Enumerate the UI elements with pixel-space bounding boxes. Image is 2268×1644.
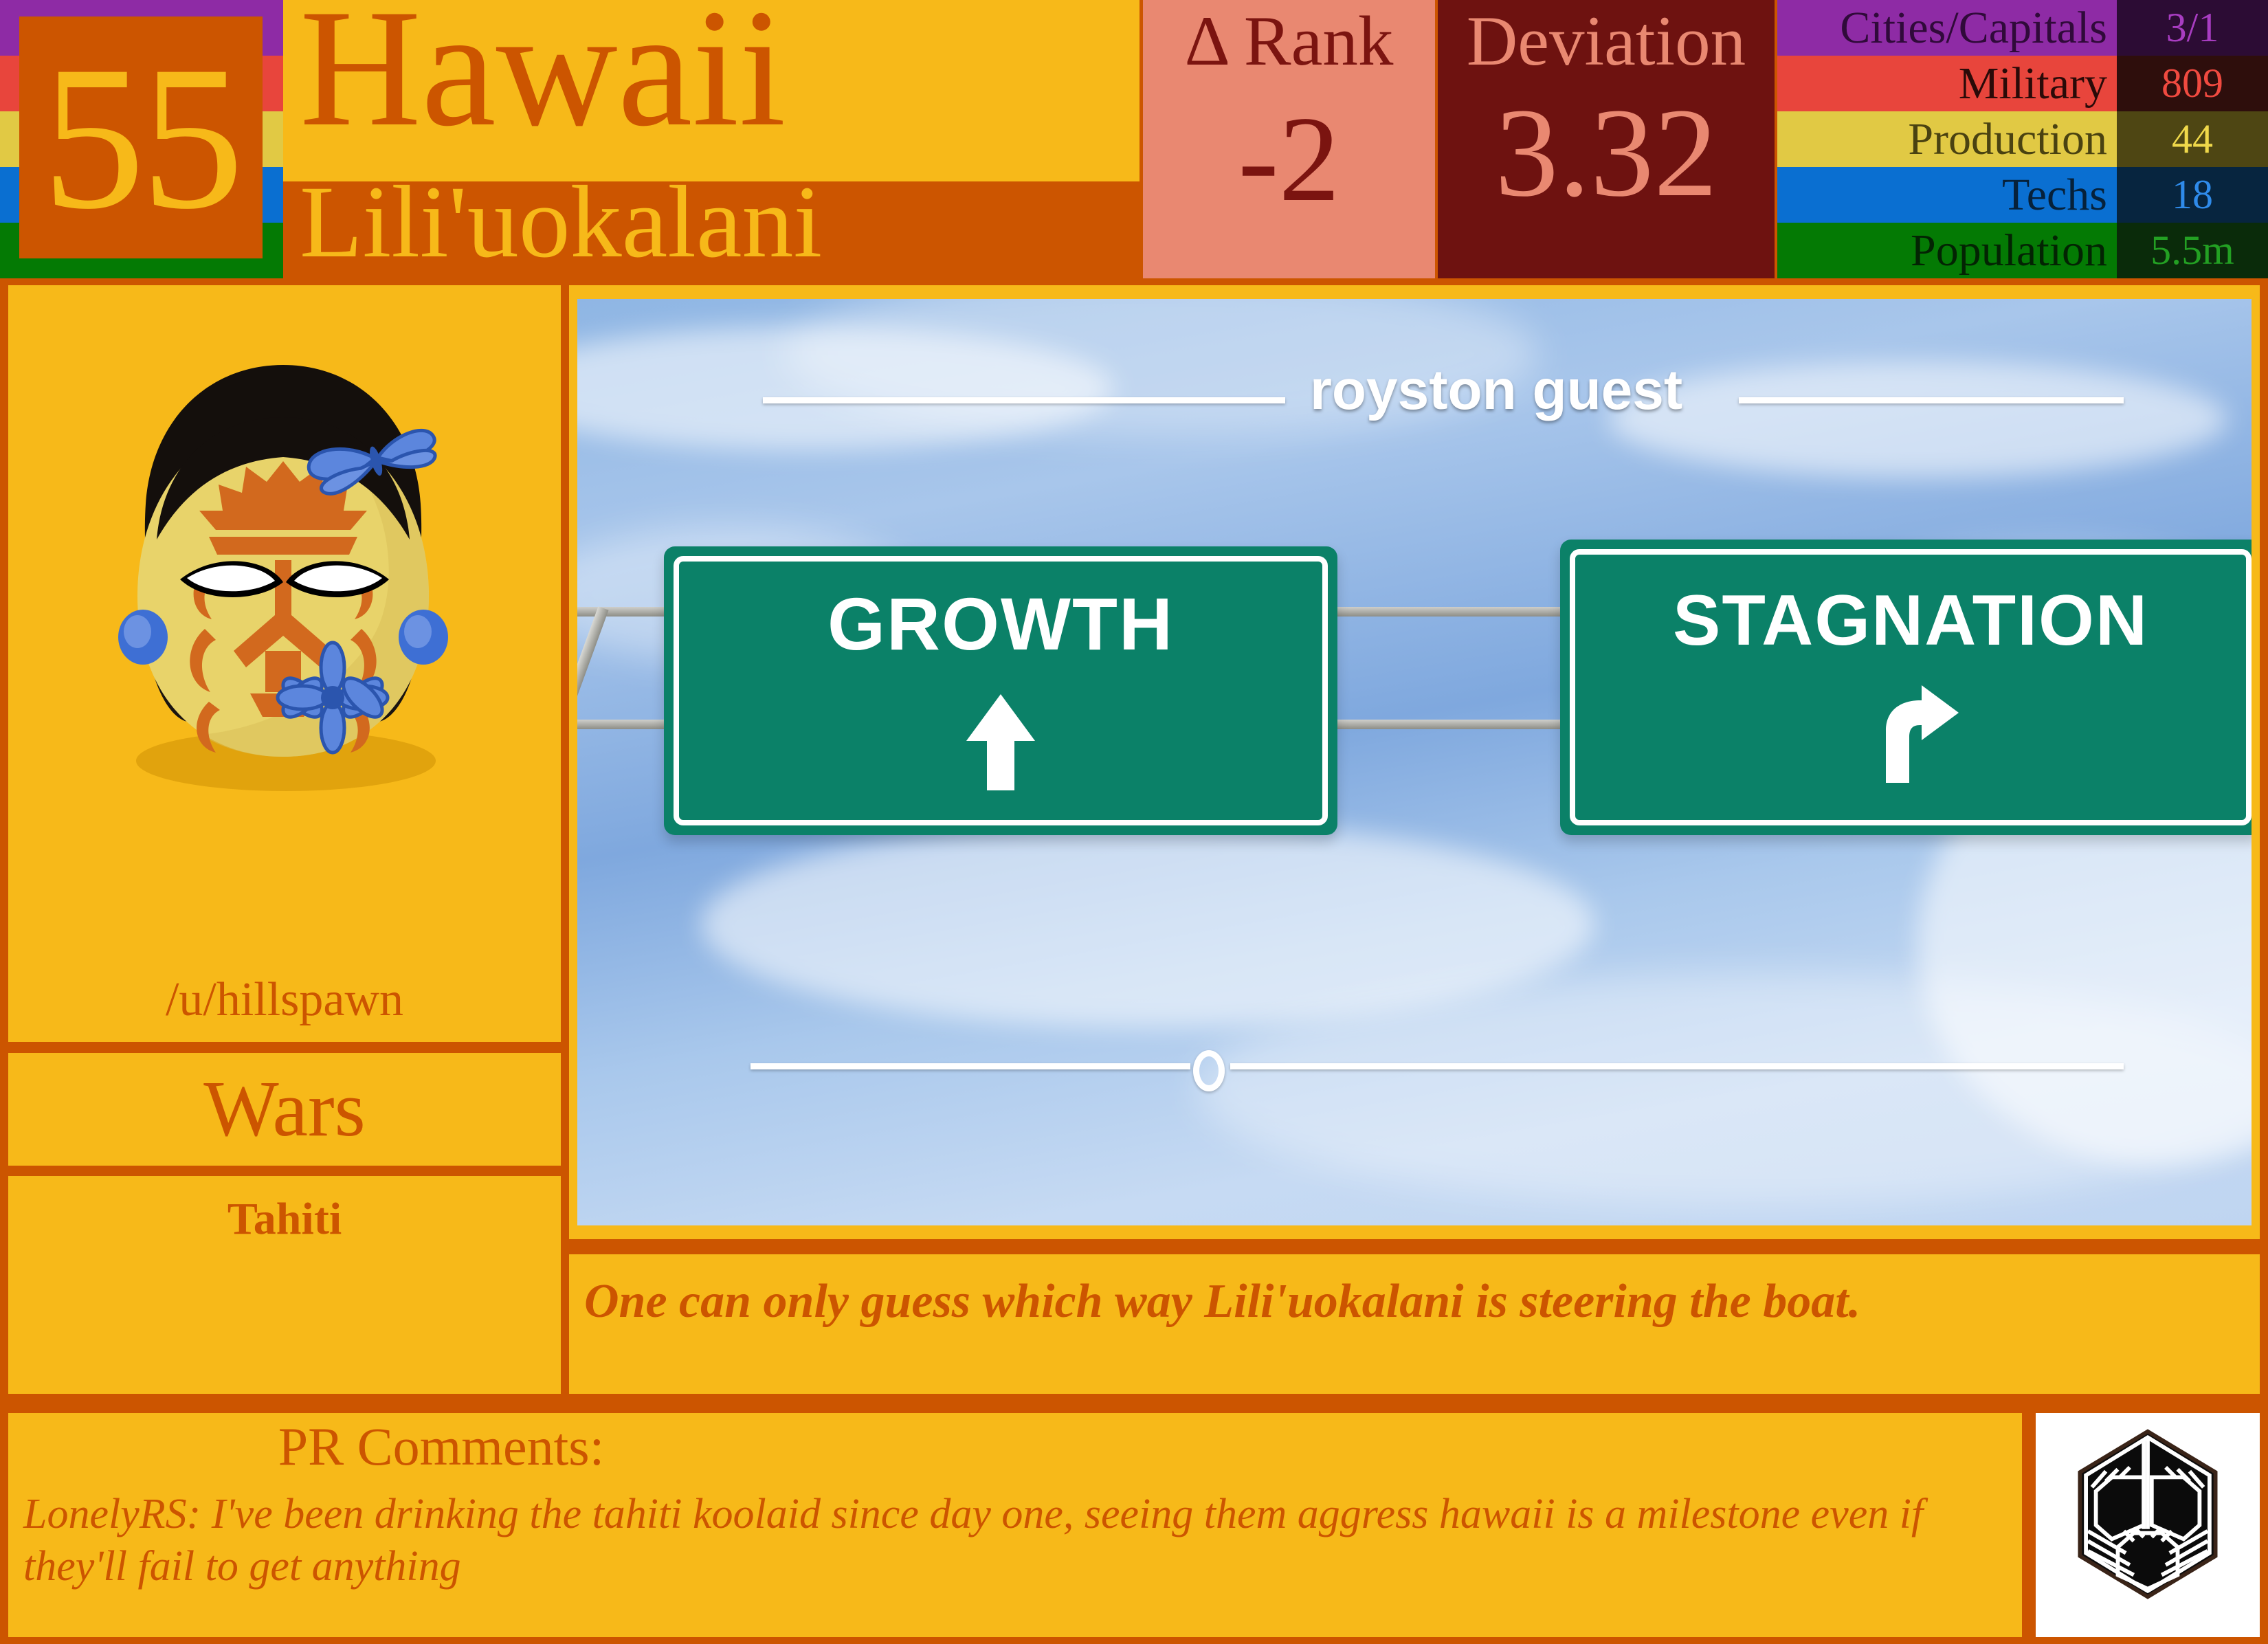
stats-table: Cities/Capitals 3/1 Military 809 Product… [1777,0,2268,278]
rank-number: 55 [42,34,240,241]
stat-value: 809 [2117,56,2268,111]
sidebar: /u/hillspawn Wars Tahiti [8,285,561,1394]
leader-bar: Lili'uokalani [283,181,1139,278]
watermark-rule-lower-left [751,1063,1190,1069]
stat-value: 3/1 [2117,0,2268,56]
photo-panel: GROWTH STAGNATION [569,285,2260,1239]
stagnation-sign: STAGNATION [1560,540,2252,835]
rank-stripe-column: 55 [0,0,283,278]
stat-value: 5.5m [2117,223,2268,278]
stat-label: Cities/Capitals [1777,0,2117,56]
stat-value: 44 [2117,111,2268,167]
stat-label: Military [1777,56,2117,111]
arrow-turn-right-icon [1856,682,1966,786]
caption-panel: One can only guess which way Lili'uokala… [569,1254,2260,1394]
submitter-username: /u/hillspawn [8,976,561,1024]
hawaii-countryball-avatar [106,340,463,849]
cloud [1608,361,2227,478]
stat-label: Techs [1777,167,2117,223]
deviation-label: Deviation [1438,0,1775,78]
logo-panel [2036,1413,2260,1637]
avatar-panel: /u/hillspawn [8,285,561,1042]
pr-comments-title: PR Comments: [8,1420,874,1474]
wars-section-header: Wars [8,1053,561,1166]
stat-label: Population [1777,223,2117,278]
delta-rank-value: -2 [1143,98,1435,220]
media-column: GROWTH STAGNATION [569,285,2260,1394]
rank-badge: 55 [19,16,263,258]
pr-comments-panel: PR Comments: LonelyRS: I've been drinkin… [8,1413,2022,1637]
deviation-value: 3.32 [1438,89,1775,216]
stagnation-sign-label: STAGNATION [1673,580,2148,662]
wars-title: Wars [203,1069,365,1149]
growth-sign-label: GROWTH [827,581,1174,667]
stat-row-techs: Techs 18 [1777,167,2268,223]
stat-row-military: Military 809 [1777,56,2268,111]
stat-row-population: Population 5.5m [1777,223,2268,278]
arrow-up-icon [959,690,1042,793]
leader-name: Lili'uokalani [300,170,822,274]
nation-name: Hawaii [300,0,786,152]
sky-road-sign-photo: GROWTH STAGNATION [577,299,2252,1225]
stat-row-production: Production 44 [1777,111,2268,167]
delta-rank-label: Δ Rank [1143,0,1435,78]
card-header: 55 Hawaii Lili'uokalani Δ Rank -2 Deviat… [0,0,2268,278]
growth-sign: GROWTH [664,546,1337,835]
nation-report-card: 55 Hawaii Lili'uokalani Δ Rank -2 Deviat… [0,0,2268,1644]
delta-rank-panel: Δ Rank -2 [1143,0,1435,278]
pr-comment-text: LonelyRS: I've been drinking the tahiti … [23,1489,2005,1592]
hex-cluster-logo [2048,1425,2247,1625]
card-footer: PR Comments: LonelyRS: I've been drinkin… [0,1406,2268,1644]
card-body: /u/hillspawn Wars Tahiti [0,278,2268,1399]
stat-row-cities: Cities/Capitals 3/1 [1777,0,2268,56]
stat-value: 18 [2117,167,2268,223]
deviation-panel: Deviation 3.32 [1438,0,1775,278]
wars-list: Tahiti [8,1176,561,1394]
stat-label: Production [1777,111,2117,167]
caption-text: One can only guess which way Lili'uokala… [584,1274,2245,1331]
war-item: Tahiti [8,1191,561,1248]
